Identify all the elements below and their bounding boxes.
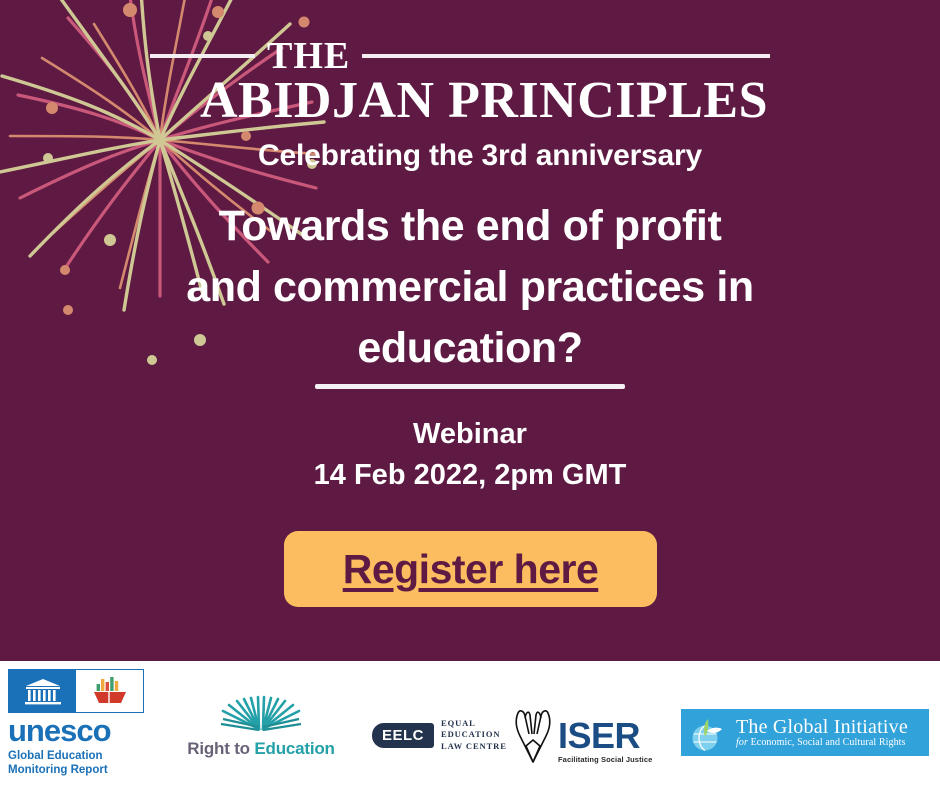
praying-hands-icon <box>510 706 556 764</box>
hero-section: THE ABIDJAN PRINCIPLES Celebrating the 3… <box>0 0 940 661</box>
headline-line-1: Towards the end of profit <box>70 196 870 257</box>
headline: Towards the end of profit and commercial… <box>70 196 870 379</box>
partner-logo-bar: unesco Global Education Monitoring Repor… <box>0 661 940 788</box>
eelc-name-line-2: EDUCATION <box>441 729 507 740</box>
eelc-name-line-3: LAW CENTRE <box>441 741 507 752</box>
logo-unesco-gem-report: unesco Global Education Monitoring Repor… <box>8 669 168 777</box>
global-initiative-line-1: The Global Initiative <box>736 717 908 738</box>
rte-word-part2: Education <box>254 739 334 758</box>
unesco-subtitle-line-2: Monitoring Report <box>8 763 168 777</box>
anniversary-subtitle: Celebrating the 3rd anniversary <box>0 139 940 173</box>
global-initiative-line-2: for Economic, Social and Cultural Rights <box>736 738 908 749</box>
brand-title: ABIDJAN PRINCIPLES <box>0 74 940 129</box>
iser-tagline: Facilitating Social Justice <box>558 755 652 764</box>
headline-line-2: and commercial practices in <box>70 257 870 318</box>
headline-line-3: education? <box>70 318 870 379</box>
eelc-acronym-badge: EELC <box>372 723 434 748</box>
register-button[interactable]: Register here <box>284 531 657 607</box>
eelc-full-name: EQUAL EDUCATION LAW CENTRE <box>441 718 507 752</box>
global-initiative-for: for <box>736 737 748 748</box>
logo-eelc: EELC EQUAL EDUCATION LAW CENTRE <box>372 718 507 752</box>
rte-wordmark: Right to Education <box>186 739 336 759</box>
rte-word-part1: Right to <box>187 739 254 758</box>
eyebrow-rule-right <box>362 54 770 58</box>
eyebrow-label: THE <box>267 37 350 75</box>
event-datetime: 14 Feb 2022, 2pm GMT <box>0 455 940 496</box>
sprouting-globe-icon <box>687 713 731 753</box>
unesco-subtitle-line-1: Global Education <box>8 749 168 763</box>
headline-underline <box>315 384 625 389</box>
logo-global-initiative: The Global Initiative for Economic, Soci… <box>681 709 929 756</box>
event-details: Webinar 14 Feb 2022, 2pm GMT <box>0 414 940 496</box>
unesco-emblem-icon <box>8 669 144 713</box>
eelc-name-line-1: EQUAL <box>441 718 507 729</box>
iser-wordmark: ISER <box>558 718 652 754</box>
global-initiative-rest: Economic, Social and Cultural Rights <box>748 737 906 748</box>
open-book-rays-icon <box>211 695 311 733</box>
logo-iser: ISER Facilitating Social Justice <box>510 706 652 764</box>
poster-root: THE ABIDJAN PRINCIPLES Celebrating the 3… <box>0 0 940 788</box>
temple-icon <box>22 676 64 706</box>
eyebrow-rule-left <box>150 54 255 58</box>
gem-report-book-icon <box>90 675 130 707</box>
event-type: Webinar <box>0 414 940 455</box>
unesco-subtitle: Global Education Monitoring Report <box>8 749 168 778</box>
unesco-wordmark: unesco <box>8 715 168 748</box>
logo-right-to-education: Right to Education <box>186 695 336 759</box>
